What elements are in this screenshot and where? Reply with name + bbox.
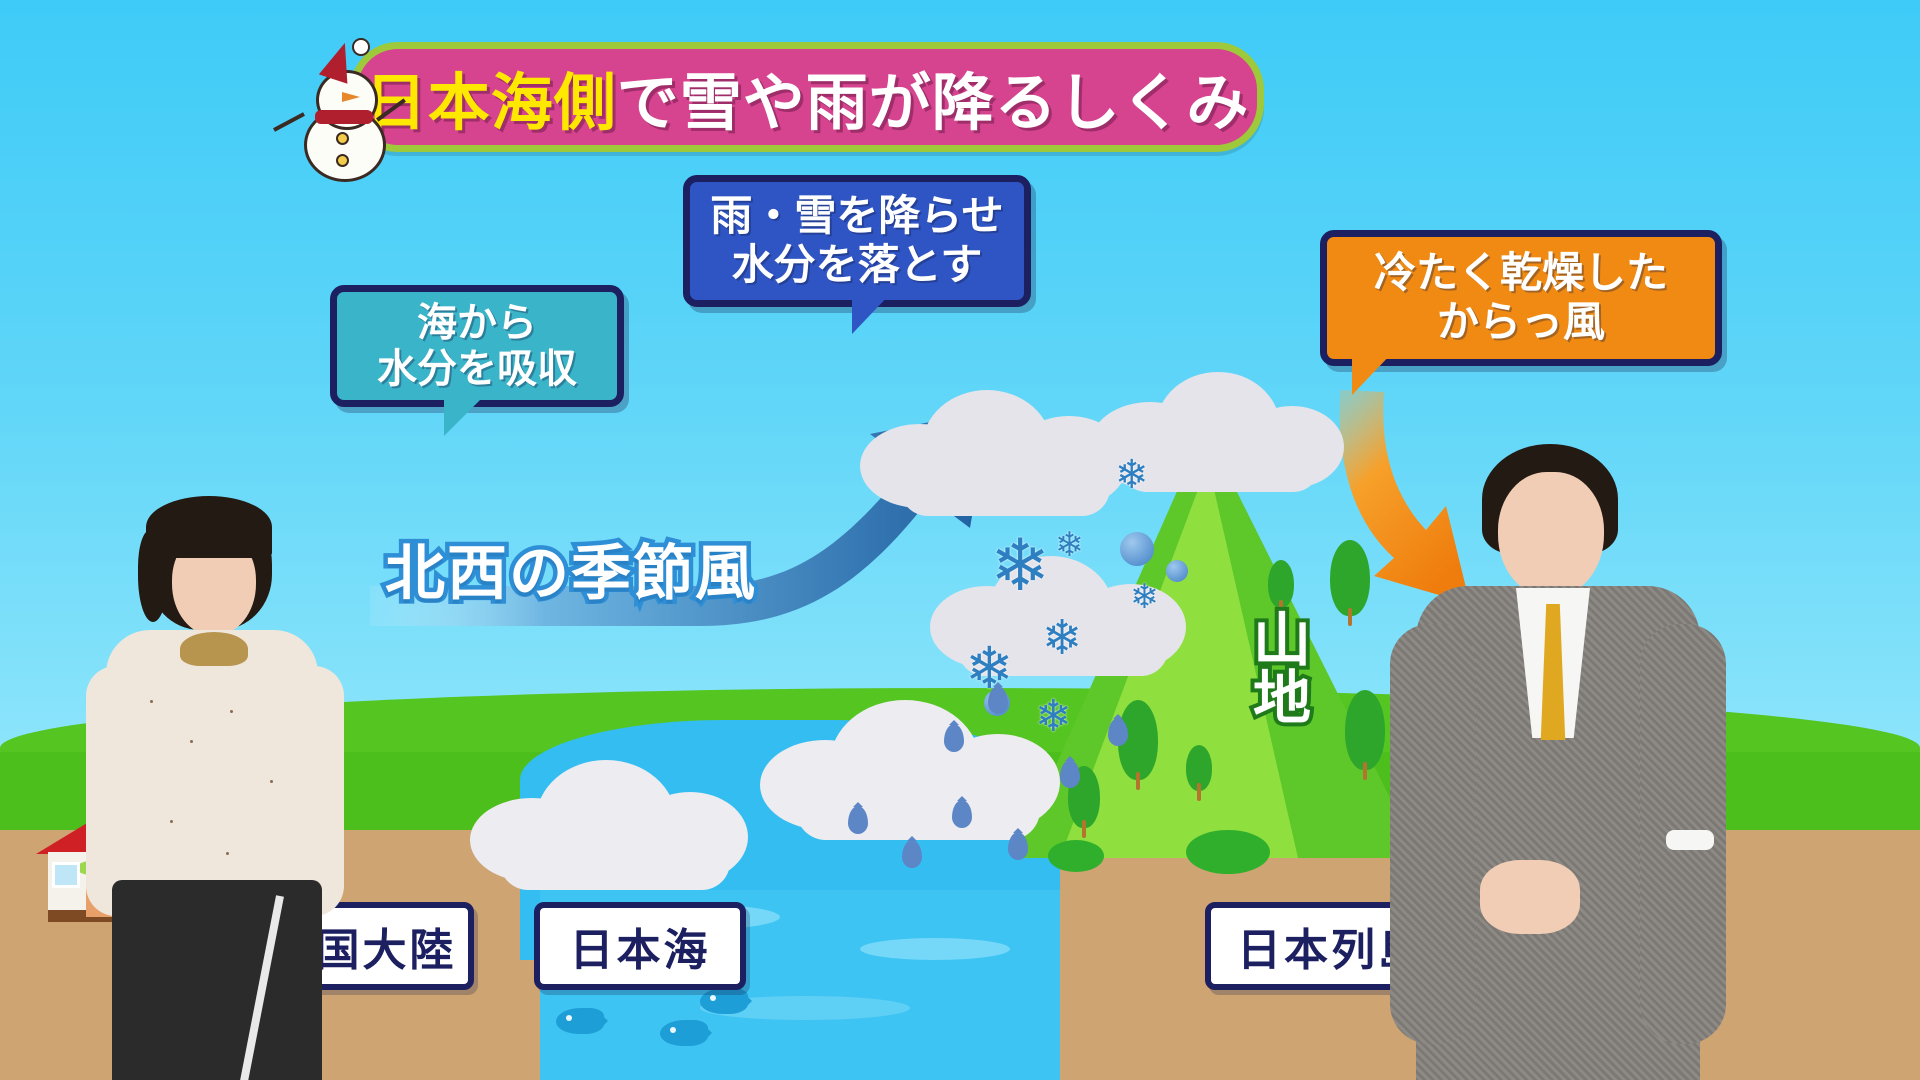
- title-banner: 日本海側で雪や雨が降るしくみ: [290, 30, 1250, 150]
- raindrop-icon: [944, 724, 964, 752]
- callout-precipitate[interactable]: 雨・雪を降らせ 水分を落とす: [683, 175, 1031, 307]
- snowflake-icon: ❄: [1035, 695, 1072, 739]
- raindrop-icon: [1108, 718, 1128, 746]
- label-monsoon: 北西の季節風: [385, 525, 757, 612]
- callout-absorb-text: 海から 水分を吸収: [377, 300, 577, 393]
- raindrop-icon: [1060, 760, 1080, 788]
- callout-precipitate-tail: [852, 292, 892, 334]
- bush-icon: [1186, 830, 1270, 874]
- label-mountain: 山 地: [1253, 612, 1311, 728]
- presenter-female: [30, 180, 350, 1080]
- snowflake-icon: ❄: [990, 530, 1050, 602]
- tree-icon: [1268, 560, 1294, 608]
- title-bar: 日本海側で雪や雨が降るしくみ: [350, 42, 1264, 152]
- plaque-japan-sea-text: 日本海: [570, 914, 711, 978]
- snowflake-icon: ❄: [1042, 615, 1082, 663]
- snow-ball: [1166, 560, 1188, 582]
- snow-ball: [1120, 532, 1154, 566]
- snowflake-icon: ❄: [1130, 580, 1159, 614]
- fish-icon: [660, 1020, 708, 1046]
- fish-icon: [700, 988, 748, 1014]
- callout-precipitate-text: 雨・雪を降らせ 水分を落とす: [710, 192, 1003, 289]
- page-title: 日本海側で雪や雨が降るしくみ: [365, 52, 1250, 142]
- raindrop-icon: [988, 686, 1008, 714]
- callout-absorb-tail: [444, 392, 488, 436]
- snowman-icon: [290, 48, 400, 178]
- plaque-japan-sea[interactable]: 日本海: [534, 902, 746, 990]
- bush-icon: [1048, 840, 1104, 872]
- raindrop-icon: [952, 800, 972, 828]
- broadcast-stage: ❄ ❄ ❄ ❄ ❄ ❄ ❄ 日本海側で雪や雨が降るしくみ: [0, 0, 1920, 1080]
- snowflake-icon: ❄: [1115, 455, 1149, 495]
- raindrop-icon: [902, 840, 922, 868]
- fish-icon: [556, 1008, 604, 1034]
- sea-wave: [860, 938, 1010, 960]
- callout-absorb[interactable]: 海から 水分を吸収: [330, 285, 624, 407]
- raindrop-icon: [1008, 832, 1028, 860]
- snowflake-icon: ❄: [965, 640, 1014, 698]
- raindrop-icon: [848, 806, 868, 834]
- presenter-male: [1330, 220, 1750, 1080]
- title-rest: で雪や雨が降るしくみ: [617, 69, 1249, 138]
- snowflake-icon: ❄: [1055, 528, 1084, 562]
- tree-icon: [1186, 745, 1212, 791]
